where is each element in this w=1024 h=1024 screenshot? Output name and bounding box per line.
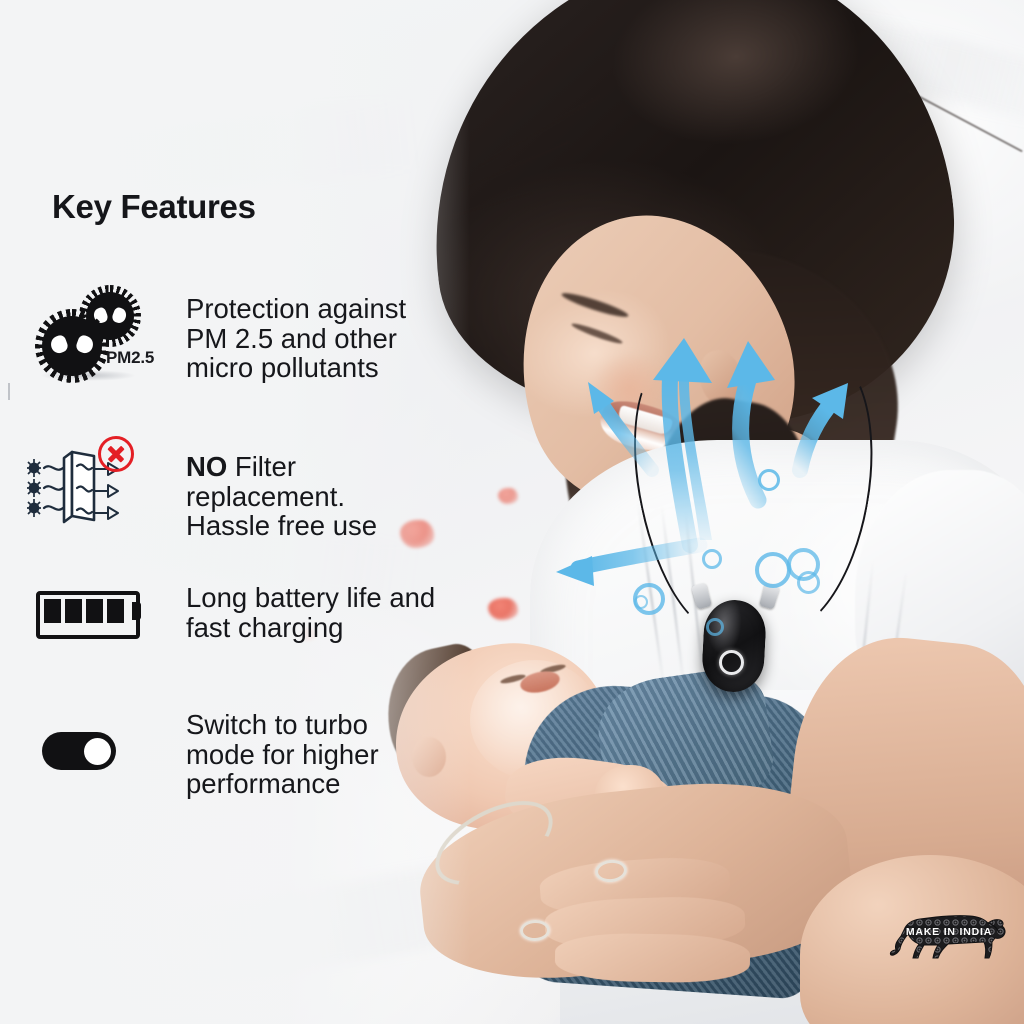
ion-bubble <box>752 468 753 469</box>
ion-bubble <box>634 595 648 609</box>
ion-bubble <box>797 571 820 594</box>
left-panel-scrim <box>0 0 470 1024</box>
ion-bubble <box>755 552 791 588</box>
product-feature-image: Key Features PM2.5 Protection against PM… <box>0 0 1024 1024</box>
ion-bubble <box>702 549 722 569</box>
edge-artifact <box>8 383 10 400</box>
ion-bubble <box>758 469 780 491</box>
make-in-india-lion-logo: MAKE IN INDIA <box>888 900 1010 968</box>
ion-bubble <box>706 618 724 636</box>
make-in-india-text: MAKE IN INDIA <box>900 926 998 938</box>
